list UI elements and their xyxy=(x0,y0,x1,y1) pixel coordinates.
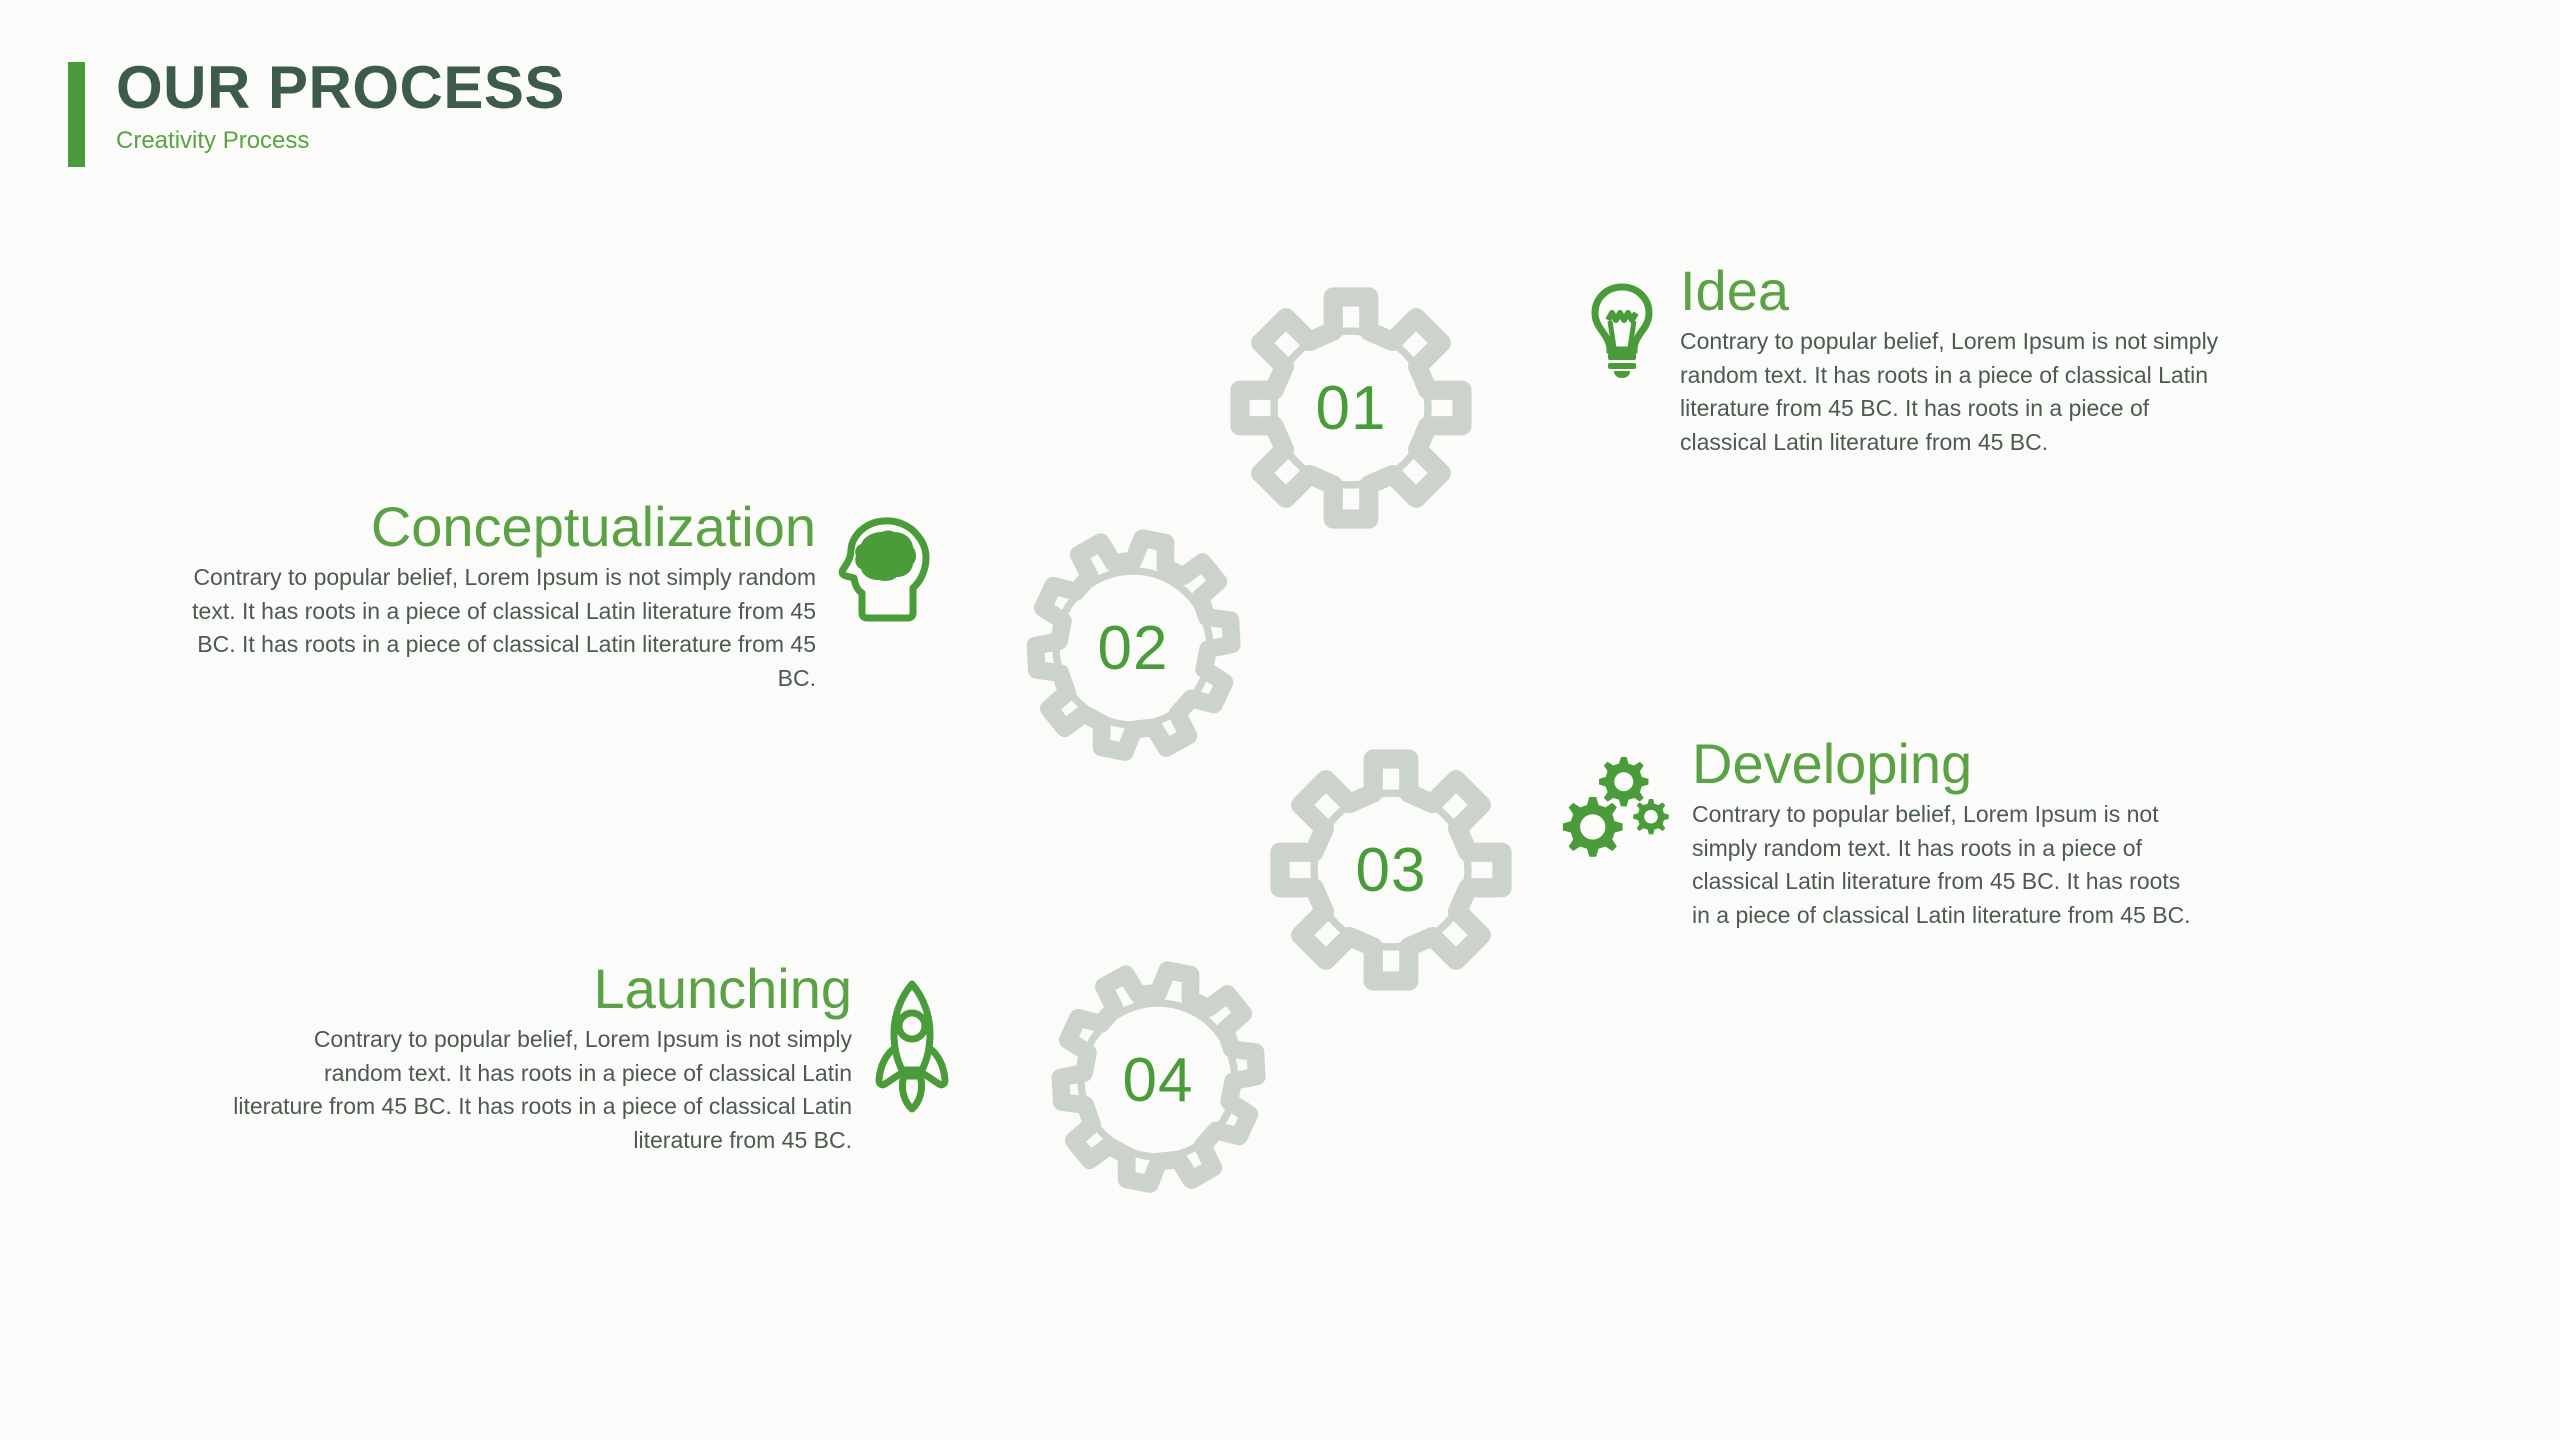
infographic-canvas: OUR PROCESS Creativity Process 01 02 03 xyxy=(0,0,2560,1440)
page-title: OUR PROCESS xyxy=(116,58,565,118)
step-text-conceptualization: Conceptualization Contrary to popular be… xyxy=(160,498,816,696)
header-text-group: OUR PROCESS Creativity Process xyxy=(116,58,565,154)
page-header: OUR PROCESS Creativity Process xyxy=(68,62,565,167)
step-body-conceptualization: Contrary to popular belief, Lorem Ipsum … xyxy=(160,561,816,696)
page-subtitle: Creativity Process xyxy=(116,128,565,154)
step-heading-launching: Launching xyxy=(230,960,852,1019)
gear-04-inner-ring xyxy=(1081,1003,1235,1157)
step-text-idea: Idea Contrary to popular belief, Lorem I… xyxy=(1680,262,2226,460)
lightbulb-icon xyxy=(1586,280,1658,380)
step-body-idea: Contrary to popular belief, Lorem Ipsum … xyxy=(1680,325,2226,460)
step-heading-developing: Developing xyxy=(1692,735,2202,794)
gear-03-inner-ring xyxy=(1314,793,1468,947)
step-block-idea[interactable]: Idea Contrary to popular belief, Lorem I… xyxy=(1586,262,2226,460)
step-body-developing: Contrary to popular belief, Lorem Ipsum … xyxy=(1692,798,2202,933)
gear-02-inner-ring xyxy=(1056,571,1210,725)
step-text-launching: Launching Contrary to popular belief, Lo… xyxy=(230,960,852,1158)
gear-01-inner-ring xyxy=(1274,331,1428,485)
step-text-developing: Developing Contrary to popular belief, L… xyxy=(1692,735,2202,933)
step-body-launching: Contrary to popular belief, Lorem Ipsum … xyxy=(230,1023,852,1158)
step-heading-conceptualization: Conceptualization xyxy=(160,498,816,557)
step-block-conceptualization[interactable]: Conceptualization Contrary to popular be… xyxy=(160,498,930,696)
step-block-developing[interactable]: Developing Contrary to popular belief, L… xyxy=(1562,735,2202,933)
gear-wheel-02[interactable]: 02 xyxy=(985,500,1281,796)
gear-wheel-04[interactable]: 04 xyxy=(1010,932,1306,1228)
rocket-icon xyxy=(874,978,950,1114)
step-heading-idea: Idea xyxy=(1680,262,2226,321)
header-accent-bar xyxy=(68,62,85,167)
head-brain-icon xyxy=(838,516,930,624)
step-block-launching[interactable]: Launching Contrary to popular belief, Lo… xyxy=(230,960,950,1158)
gears-icon xyxy=(1562,753,1670,861)
